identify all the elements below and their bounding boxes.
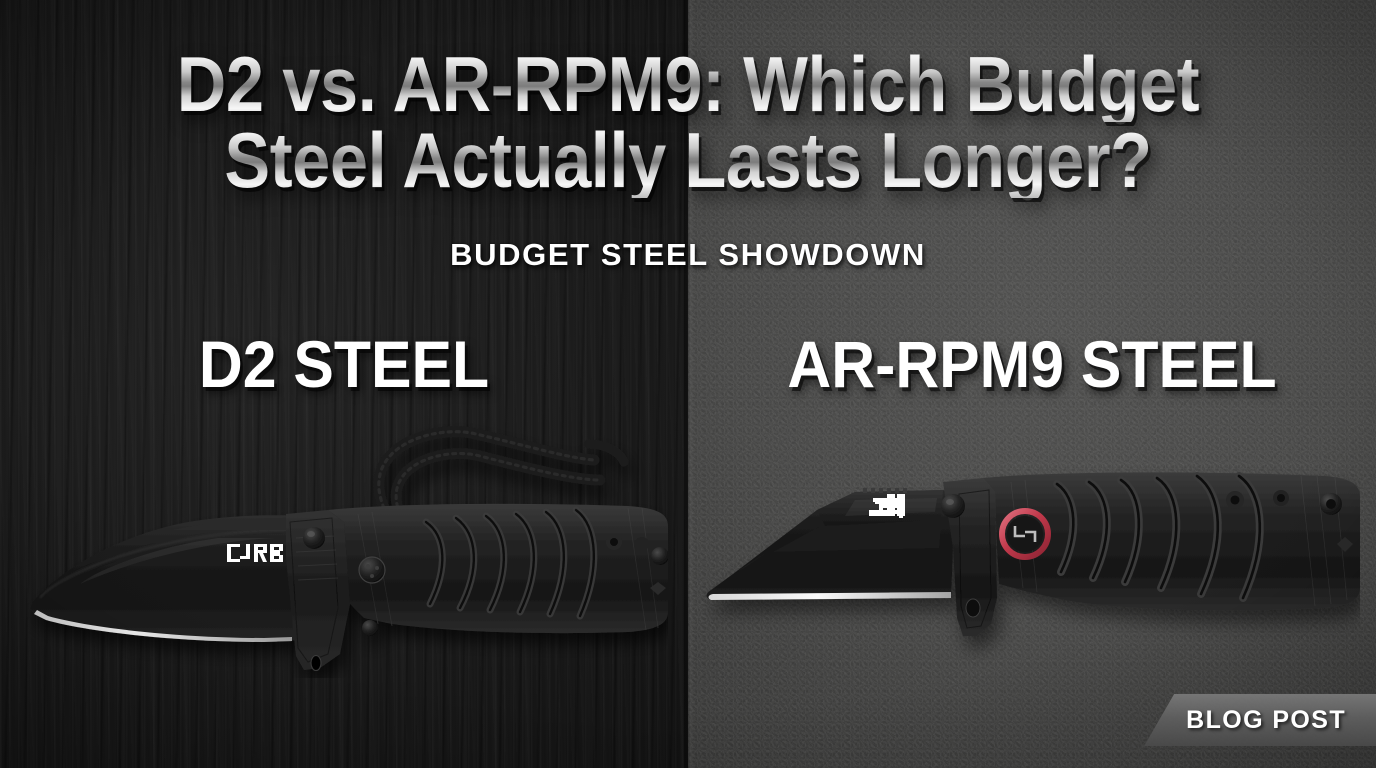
blog-post-badge-label: BLOG POST: [1186, 706, 1346, 735]
thumb-stud-right: [941, 494, 965, 518]
pivot-ring-icon: [1002, 511, 1048, 557]
hero-thumbnail: D2 vs. AR-RPM9: Which Budget Steel Actua…: [0, 0, 1376, 768]
lanyard-cord: [379, 432, 624, 514]
blog-post-badge[interactable]: BLOG POST: [1144, 694, 1376, 746]
thumb-stud-left: [303, 527, 325, 549]
knife-image-d2: [28, 418, 668, 678]
knife-image-ar-rpm9: [705, 448, 1360, 663]
